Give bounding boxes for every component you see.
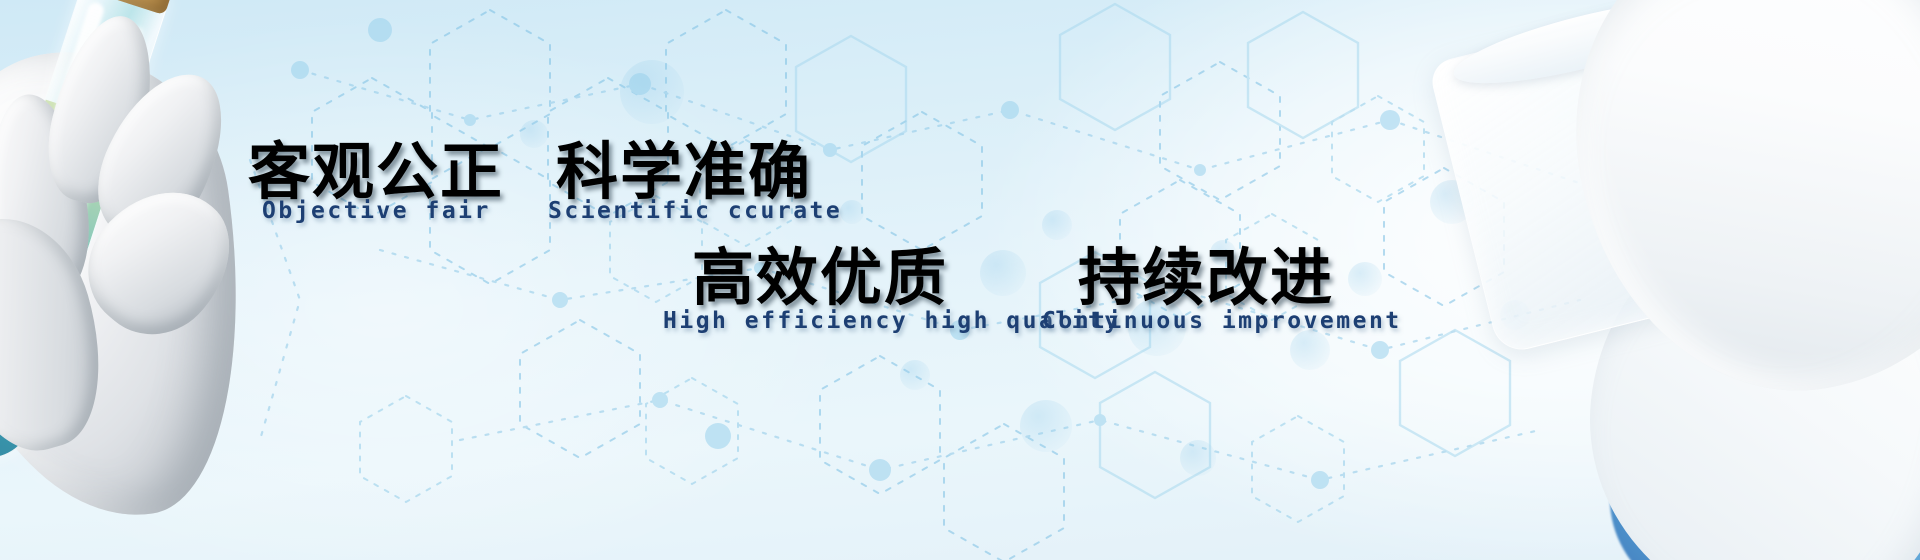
- slogan-heading-objective-fair: 客观公正: [248, 141, 504, 203]
- slogan-subtitle-objective-fair: Objective fair: [262, 200, 491, 223]
- slogan-subtitle-scientific-accurate: Scientific ccurate: [548, 200, 842, 223]
- slogan-text-block: 客观公正 Objective fair 科学准确 Scientific ccur…: [0, 0, 1920, 560]
- slogan-heading-continuous-improvement: 持续改进: [1078, 247, 1334, 309]
- slogan-heading-high-efficiency: 高效优质: [692, 247, 948, 309]
- slogan-subtitle-continuous-improvement: Continuous improvement: [1042, 310, 1402, 333]
- laboratory-slogan-banner: 客观公正 Objective fair 科学准确 Scientific ccur…: [0, 0, 1920, 560]
- slogan-heading-scientific-accurate: 科学准确: [556, 141, 812, 203]
